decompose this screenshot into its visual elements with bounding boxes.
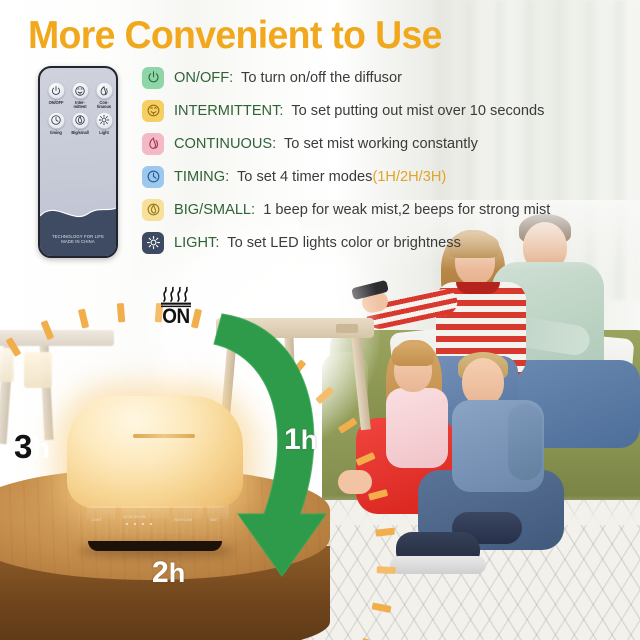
remote-button-label: timing bbox=[50, 131, 62, 135]
base-label-light: LIGHT bbox=[91, 518, 102, 522]
dial-tick bbox=[6, 337, 22, 357]
remote-button-label: Con-tinuous bbox=[97, 101, 111, 110]
boy-arm bbox=[508, 404, 542, 480]
on-label: ON bbox=[154, 308, 197, 327]
feature-description: To set 4 timer modes bbox=[237, 169, 372, 185]
feature-label: INTERMITTENT: bbox=[174, 103, 283, 119]
feature-description: To set mist working constantly bbox=[284, 136, 478, 152]
remote-button-timing[interactable]: timing bbox=[44, 112, 68, 135]
girl-shirt bbox=[386, 388, 448, 468]
feature-label: CONTINUOUS: bbox=[174, 136, 276, 152]
cycle-arrow bbox=[208, 300, 338, 600]
feature-text: LIGHT: To set LED lights color or bright… bbox=[174, 235, 461, 251]
dial-tick bbox=[41, 320, 55, 340]
intermittent-mist-icon bbox=[72, 82, 89, 99]
feature-text: TIMING: To set 4 timer modes(1H/2H/3H) bbox=[174, 169, 446, 185]
dial-tick bbox=[117, 303, 125, 322]
remote-control[interactable]: ON/OFFInter-mittentCon-tinuoustimingBig/… bbox=[38, 66, 118, 258]
dial-tick bbox=[78, 309, 89, 329]
timer-label-3h: 3h bbox=[14, 430, 50, 464]
power-icon bbox=[48, 82, 65, 99]
woman-collar bbox=[456, 282, 500, 294]
feature-row-timing: TIMING: To set 4 timer modes(1H/2H/3H) bbox=[142, 161, 640, 192]
feature-description: To set LED lights color or brightness bbox=[227, 235, 461, 251]
remote-button-label: Big/small bbox=[71, 131, 88, 135]
feature-description: 1 beep for weak mist,2 beeps for strong … bbox=[263, 202, 550, 218]
feature-text: CONTINUOUS: To set mist working constant… bbox=[174, 136, 478, 152]
feature-label: ON/OFF: bbox=[174, 70, 233, 86]
remote-wave-graphic bbox=[40, 194, 116, 256]
feature-text: BIG/SMALL: 1 beep for weak mist,2 beeps … bbox=[174, 202, 550, 218]
feature-row-bigsmall: BIG/SMALL: 1 beep for weak mist,2 beeps … bbox=[142, 194, 640, 225]
girl-foot bbox=[338, 470, 372, 494]
feature-text: INTERMITTENT: To set putting out mist ov… bbox=[174, 103, 544, 119]
feature-highlight: (1H/2H/3H) bbox=[372, 169, 446, 185]
big-small-mist-icon bbox=[142, 199, 164, 221]
boy-head bbox=[462, 358, 504, 406]
timer-label-1h: 1h bbox=[284, 425, 317, 455]
clock-icon bbox=[48, 112, 65, 129]
power-icon bbox=[142, 67, 164, 89]
light-sun-icon bbox=[96, 112, 113, 129]
big-small-mist-icon bbox=[72, 112, 89, 129]
timer-label-2h: 2h bbox=[152, 558, 185, 588]
feature-text: ON/OFF: To turn on/off the diffusor bbox=[174, 70, 402, 86]
intermittent-mist-icon bbox=[142, 100, 164, 122]
girl-fringe bbox=[392, 342, 434, 366]
remote-button-label: ON/OFF bbox=[49, 101, 64, 105]
continuous-mist-icon bbox=[96, 82, 113, 99]
dial-tick bbox=[377, 566, 396, 574]
light-sun-icon bbox=[142, 232, 164, 254]
remote-button-onoff[interactable]: ON/OFF bbox=[44, 82, 68, 110]
feature-description: To set putting out mist over 10 seconds bbox=[291, 103, 544, 119]
feature-label: BIG/SMALL: bbox=[174, 202, 255, 218]
diffuser-feet bbox=[88, 541, 222, 551]
mist-outlet bbox=[133, 434, 195, 438]
feature-label: LIGHT: bbox=[174, 235, 219, 251]
clock-icon bbox=[142, 166, 164, 188]
remote-button-label: Inter-mittent bbox=[74, 101, 87, 110]
remote-button-continuous[interactable]: Con-tinuous bbox=[92, 82, 116, 110]
feature-list: ON/OFF: To turn on/off the diffusorINTER… bbox=[142, 62, 640, 260]
continuous-mist-icon bbox=[142, 133, 164, 155]
feature-row-intermittent: INTERMITTENT: To set putting out mist ov… bbox=[142, 95, 640, 126]
base-label-timer: 1H 2H 3H ON bbox=[123, 515, 145, 519]
remote-button-bigsmall[interactable]: Big/small bbox=[68, 112, 92, 135]
feature-description: To turn on/off the diffusor bbox=[241, 70, 402, 86]
remote-button-label: Light bbox=[99, 131, 109, 135]
boy-shoe-sole bbox=[390, 556, 486, 574]
base-label-highlow: HIGH/LOW bbox=[174, 518, 192, 522]
feature-row-continuous: CONTINUOUS: To set mist working constant… bbox=[142, 128, 640, 159]
product-infographic: LIGHT 1H 2H 3H ON HIGH/LOW MIST 3h 2h 1h bbox=[0, 0, 640, 640]
on-indicator: ON bbox=[152, 286, 200, 327]
remote-button-intermittent[interactable]: Inter-mittent bbox=[68, 82, 92, 110]
feature-row-onoff: ON/OFF: To turn on/off the diffusor bbox=[142, 62, 640, 93]
remote-button-light[interactable]: Light bbox=[92, 112, 116, 135]
page-title: More Convenient to Use bbox=[28, 16, 442, 55]
feature-row-light: LIGHT: To set LED lights color or bright… bbox=[142, 227, 640, 258]
remote-footer: TECHNOLOGY FOR LIFE MADE IN CHINA bbox=[40, 234, 116, 245]
feature-label: TIMING: bbox=[174, 169, 229, 185]
